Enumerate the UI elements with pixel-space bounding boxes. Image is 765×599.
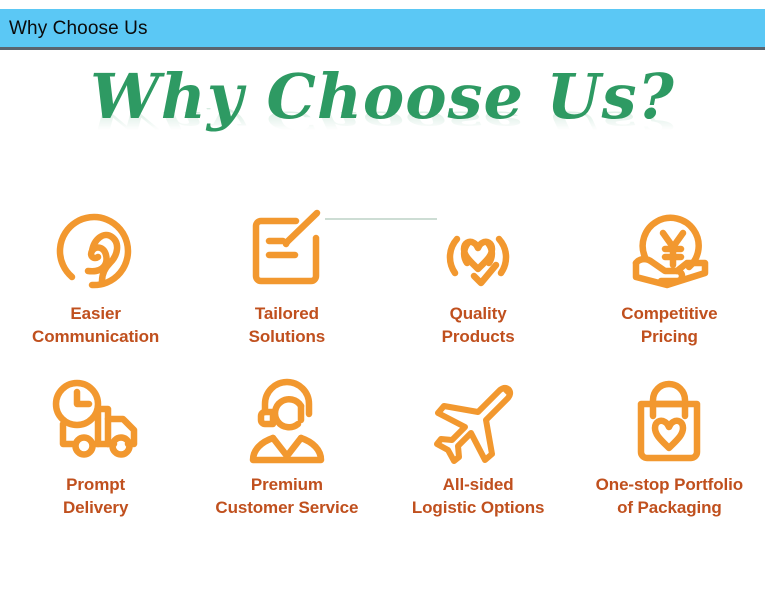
feature-grid: Easier Communication Tailored Solutions [0,195,765,545]
headset-agent-icon [237,370,337,474]
feature-label: Prompt Delivery [63,474,128,520]
feature-label: All-sided Logistic Options [412,474,545,520]
feature-item-competitive-pricing[interactable]: Competitive Pricing [574,195,765,370]
feature-item-premium-customer-service[interactable]: Premium Customer Service [191,370,382,545]
feature-item-tailored-solutions[interactable]: Tailored Solutions [191,195,382,370]
ear-in-circle-icon [48,195,144,303]
feature-item-one-stop-portfolio[interactable]: One-stop Portfolio of Packaging [574,370,765,545]
hand-holding-yen-coin-icon [621,195,717,303]
feature-label: Quality Products [442,303,515,349]
feature-label: One-stop Portfolio of Packaging [596,474,743,520]
feature-item-all-sided-logistic-options[interactable]: All-sided Logistic Options [383,370,574,545]
heart-signal-check-icon [430,195,526,303]
window-title: Why Choose Us [9,19,148,38]
airplane-icon [430,370,526,474]
feature-label: Competitive Pricing [621,303,717,349]
feature-label: Tailored Solutions [249,303,326,349]
shopping-bag-heart-icon [621,370,717,474]
document-pencil-icon [239,195,335,303]
hero-title: Why Choose Us? [0,66,765,128]
feature-label: Easier Communication [32,303,159,349]
title-bar: Why Choose Us [0,9,765,50]
hero-banner: Why Choose Us? Why Choose Us? [0,56,765,181]
feature-item-easier-communication[interactable]: Easier Communication [0,195,191,370]
feature-label: Premium Customer Service [215,474,358,520]
delivery-truck-clock-icon [46,370,146,474]
window-header: Why Choose Us [0,0,765,56]
feature-item-quality-products[interactable]: Quality Products [383,195,574,370]
feature-item-prompt-delivery[interactable]: Prompt Delivery [0,370,191,545]
